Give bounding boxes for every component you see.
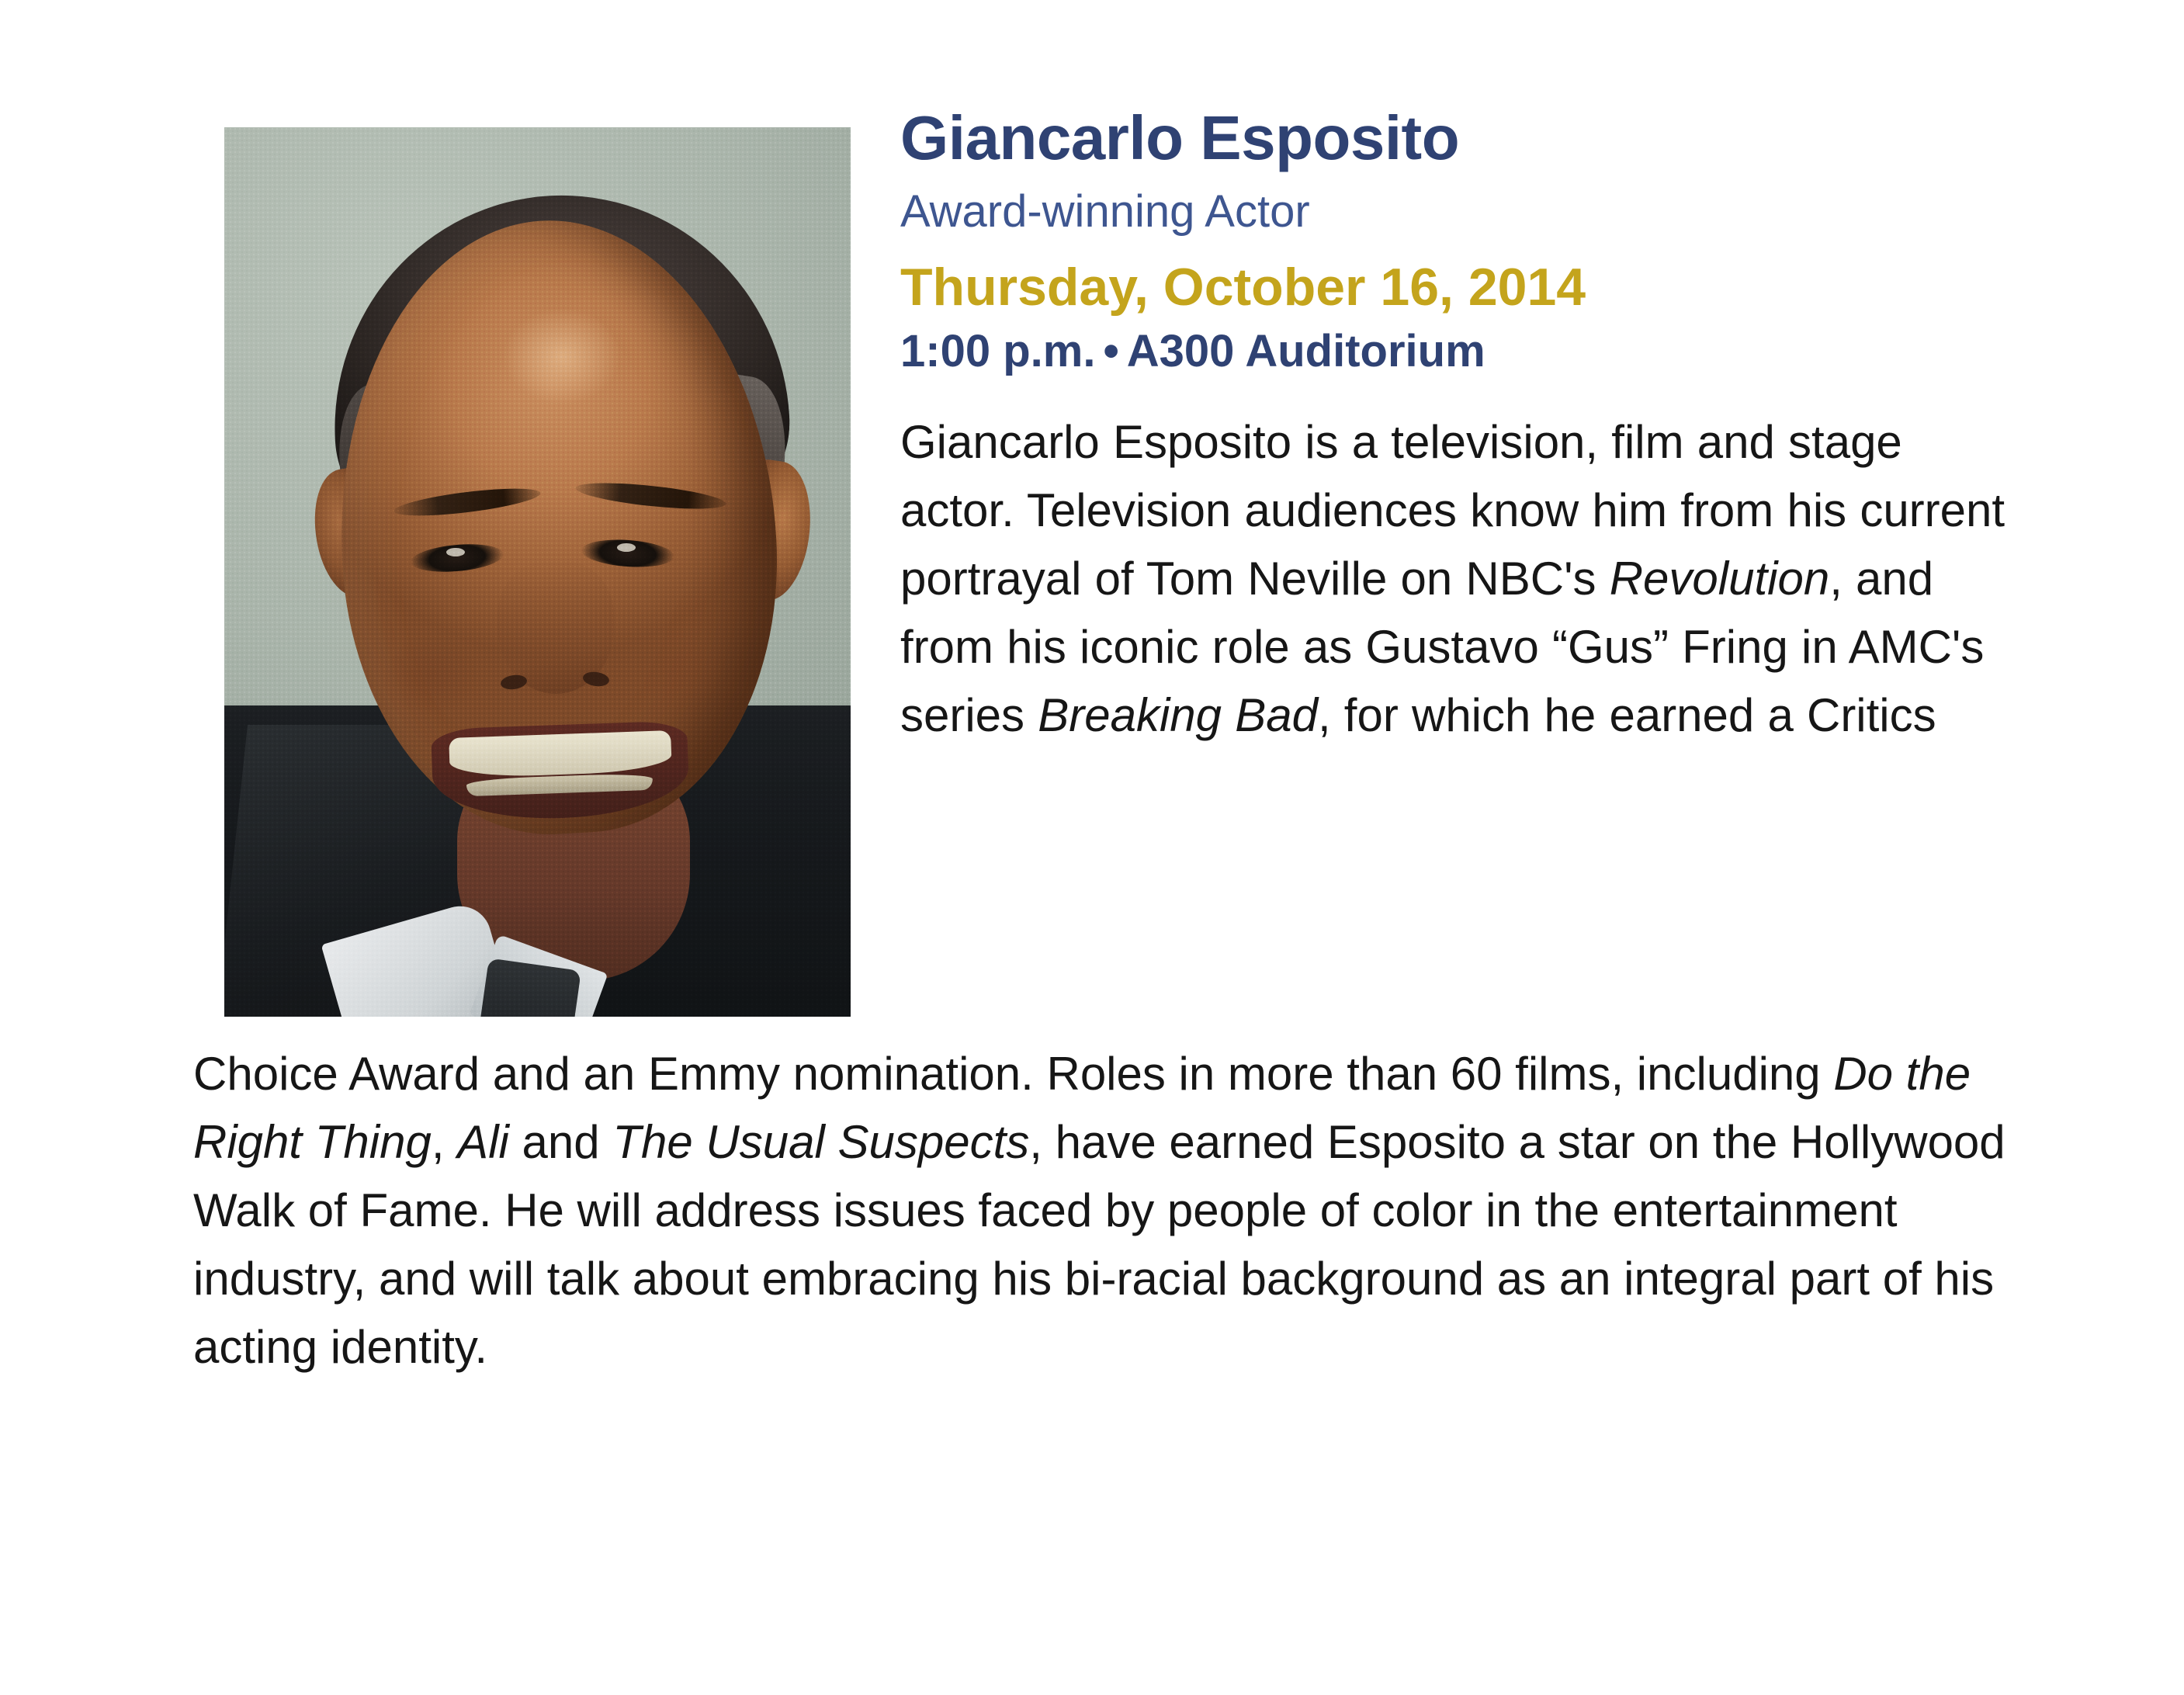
forehead-highlight (480, 290, 643, 422)
speaker-portrait-photo (224, 127, 851, 1017)
cheek-left (362, 616, 502, 733)
event-date: Thursday, October 16, 2014 (900, 261, 2009, 314)
event-time: 1:00 p.m. (900, 326, 1095, 376)
event-location: A300 Auditorium (1127, 326, 1485, 376)
eye-highlight-left (446, 548, 465, 556)
event-time-location: 1:00 p.m.•A300 Auditorium (900, 329, 2009, 374)
speaker-role: Award-winning Actor (900, 189, 2009, 234)
speaker-announcement-page: Giancarlo Esposito Award-winning Actor T… (0, 0, 2184, 1695)
speaker-name: Giancarlo Esposito (900, 107, 2009, 169)
speaker-bio-paragraph-bottom: Choice Award and an Emmy nomination. Rol… (193, 1040, 2009, 1381)
speaker-text-column: Giancarlo Esposito Award-winning Actor T… (900, 107, 2009, 750)
bullet-separator-icon: • (1095, 326, 1126, 376)
eye-highlight-right (617, 543, 636, 552)
cheek-right (606, 608, 746, 725)
speaker-bio-paragraph-top: Giancarlo Esposito is a television, film… (900, 408, 2009, 750)
speaker-portrait-figure (224, 127, 851, 1017)
